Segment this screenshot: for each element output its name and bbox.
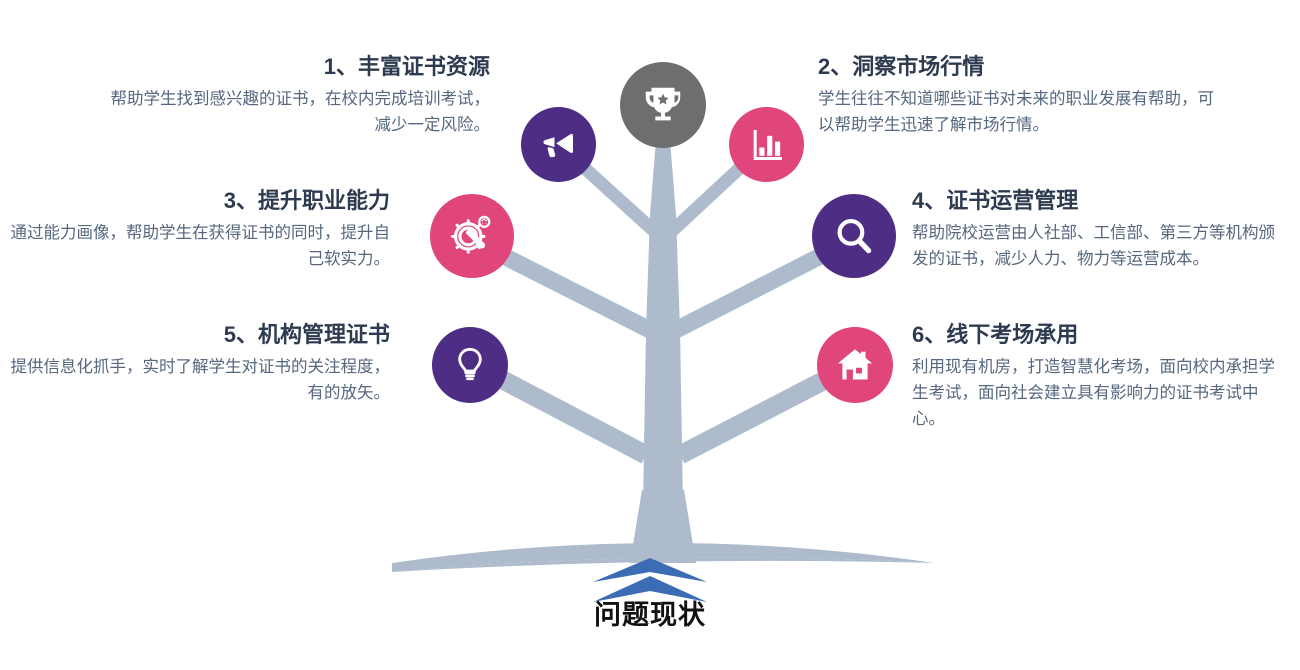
branch-node-low [651,445,675,469]
item-heading-6: 6、线下考场承用 [912,320,1284,350]
megaphone-icon[interactable] [521,107,596,182]
item-body-6: 利用现有机房，打造智慧化考场，面向校内承担学生考试，面向社会建立具有影响力的证书… [912,354,1284,432]
item-body-1: 帮助学生找到感兴趣的证书，在校内完成培训考试，减少一定风险。 [100,86,490,138]
page-title: 问题现状 [0,598,1300,632]
item-block-6: 6、线下考场承用 利用现有机房，打造智慧化考场，面向校内承担学生考试，面向社会建… [912,320,1284,432]
item-heading-3: 3、提升职业能力 [10,186,390,216]
item-block-5: 5、机构管理证书 提供信息化抓手，实时了解学生对证书的关注程度，有的放矢。 [10,320,390,406]
gear-wrench-search-glyph [447,211,497,261]
item-heading-4: 4、证书运营管理 [912,186,1280,216]
branch-node-mid [652,321,674,343]
item-body-2: 学生往往不知道哪些证书对未来的职业发展有帮助，可以帮助学生迅速了解市场行情。 [818,86,1218,138]
gear-wrench-search-icon[interactable] [430,194,514,278]
bar-chart-glyph [747,125,787,165]
trophy-glyph [640,82,686,128]
magnifier-glyph [831,213,877,259]
lightbulb-glyph [450,345,490,385]
branch-5 [480,368,646,455]
item-block-4: 4、证书运营管理 帮助院校运营由人社部、工信部、第三方等机构颁发的证书，减少人力… [912,186,1280,272]
item-block-1: 1、丰富证书资源 帮助学生找到感兴趣的证书，在校内完成培训考试，减少一定风险。 [100,52,490,138]
bar-chart-icon[interactable] [729,107,804,182]
magnifier-icon[interactable] [812,194,896,278]
item-heading-1: 1、丰富证书资源 [100,52,490,82]
item-body-5: 提供信息化抓手，实时了解学生对证书的关注程度，有的放矢。 [10,354,390,406]
branch-node-top [654,225,672,243]
item-heading-5: 5、机构管理证书 [10,320,390,350]
house-glyph [834,344,876,386]
item-body-3: 通过能力画像，帮助学生在获得证书的同时，提升自己软实力。 [10,220,390,272]
item-block-3: 3、提升职业能力 通过能力画像，帮助学生在获得证书的同时，提升自己软实力。 [10,186,390,272]
lightbulb-icon[interactable] [432,327,508,403]
trunk-base-flare [630,490,696,563]
house-icon[interactable] [817,327,893,403]
megaphone-glyph [538,124,580,166]
trophy-icon[interactable] [620,62,706,148]
item-block-2: 2、洞察市场行情 学生往往不知道哪些证书对未来的职业发展有帮助，可以帮助学生迅速… [818,52,1218,138]
infographic-canvas: 1、丰富证书资源 帮助学生找到感兴趣的证书，在校内完成培训考试，减少一定风险。 … [0,0,1300,670]
item-body-4: 帮助院校运营由人社部、工信部、第三方等机构颁发的证书，减少人力、物力等运营成本。 [912,220,1280,272]
item-heading-2: 2、洞察市场行情 [818,52,1218,82]
